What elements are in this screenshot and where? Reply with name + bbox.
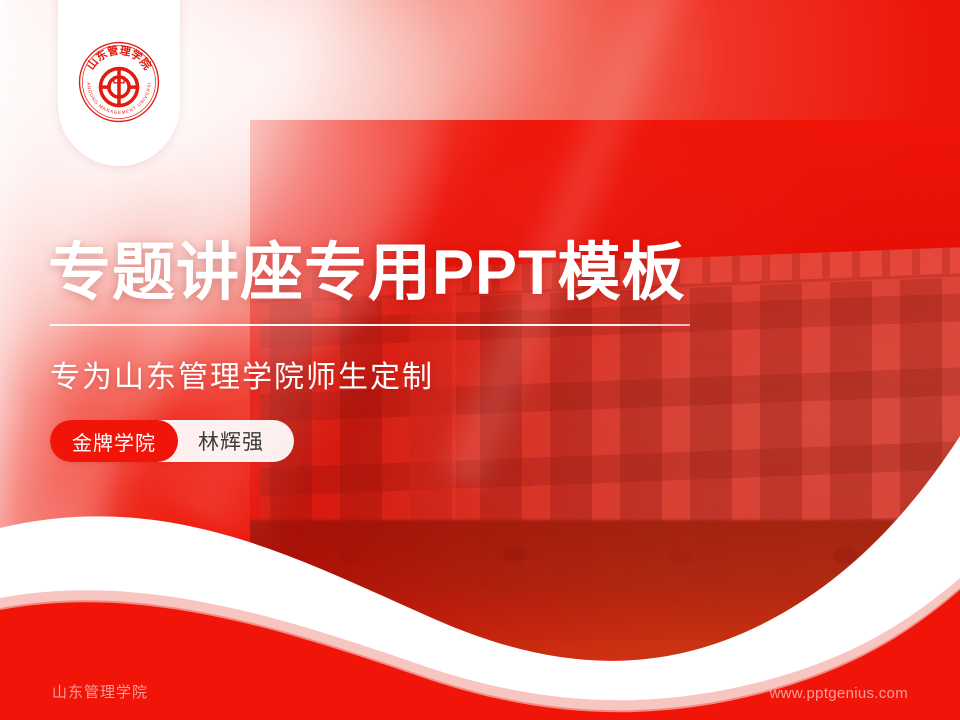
status-badge: 金牌学院 林辉强 [50, 420, 294, 462]
university-seal-icon: 山东管理学院 SHANDONG MANAGEMENT UNIVERSITY [77, 40, 161, 124]
presentation-title-slide: 山东管理学院 SHANDONG MANAGEMENT UNIVERSITY 专题… [0, 0, 960, 720]
white-s-curve-wave [0, 420, 960, 720]
footer-website-label: www.pptgenius.com [770, 685, 909, 702]
page-subtitle: 专为山东管理学院师生定制 [50, 352, 434, 396]
badge-name-label: 林辉强 [178, 426, 270, 456]
page-title: 专题讲座专用PPT模板 [48, 240, 686, 307]
logo-tab: 山东管理学院 SHANDONG MANAGEMENT UNIVERSITY [58, 0, 180, 166]
title-divider [50, 324, 690, 326]
badge-tag-label: 金牌学院 [50, 420, 178, 462]
footer-institution-label: 山东管理学院 [52, 681, 148, 702]
